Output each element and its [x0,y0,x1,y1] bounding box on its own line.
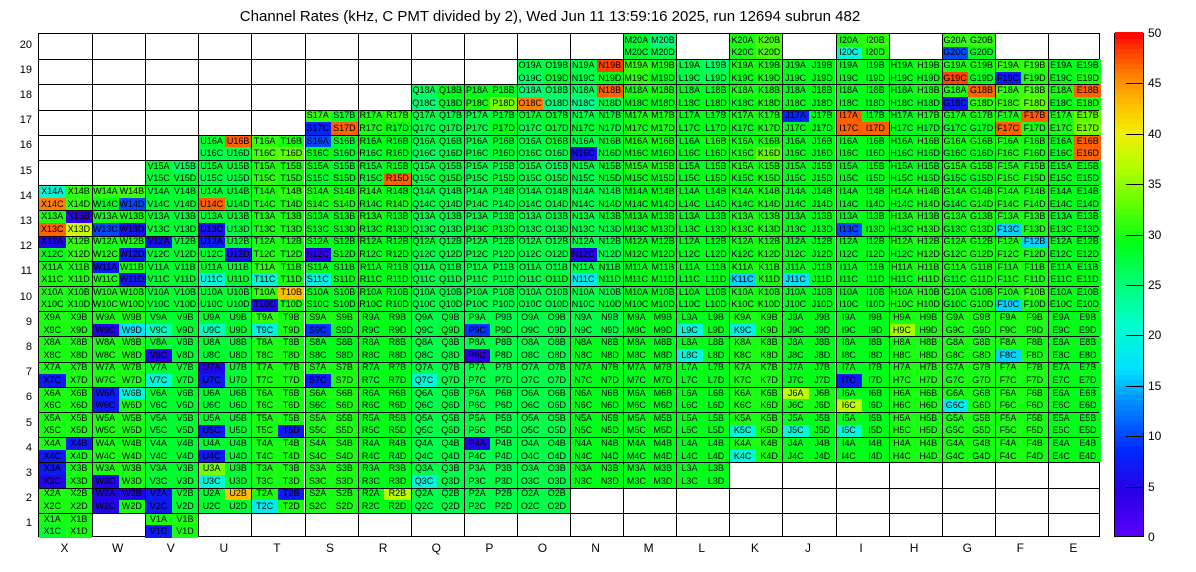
channel-pad[interactable]: S3AS3BS3CS3D [305,462,358,487]
channel-pad[interactable]: Q18AQ18BQ18CQ18D [411,84,464,109]
channel-cell[interactable]: G4C [942,450,969,463]
channel-cell[interactable]: P12A [464,236,491,249]
channel-cell[interactable]: U13A [198,210,225,223]
channel-cell[interactable]: K15A [729,160,756,173]
channel-cell[interactable]: L9C [676,324,703,337]
channel-cell[interactable]: K12B [756,236,783,249]
channel-cell[interactable]: O5A [517,412,544,425]
channel-cell[interactable]: T7A [251,362,278,375]
channel-cell[interactable]: M14D [650,198,677,211]
channel-cell[interactable]: V12B [172,236,199,249]
channel-pad[interactable]: G14AG14BG14CG14D [942,185,995,210]
channel-pad[interactable]: E9AE9BE9CE9D [1048,311,1101,336]
channel-cell[interactable]: X2B [66,488,93,501]
channel-cell[interactable]: U2D [225,500,252,513]
channel-cell[interactable]: J5B [809,412,836,425]
channel-cell[interactable]: R2A [358,488,385,501]
channel-cell[interactable]: W8B [119,336,146,349]
channel-cell[interactable]: I8C [836,349,863,362]
channel-cell[interactable]: L8C [676,349,703,362]
channel-cell[interactable]: I11C [836,273,863,286]
channel-pad[interactable]: I10AI10BI10CI10D [836,286,889,311]
channel-cell[interactable]: K19A [729,59,756,72]
channel-pad[interactable]: V4AV4BV4CV4D [145,437,198,462]
channel-cell[interactable]: L15C [676,173,703,186]
channel-cell[interactable]: V4C [145,450,172,463]
channel-pad[interactable]: M12AM12BM12CM12D [623,236,676,261]
channel-cell[interactable]: K8A [729,336,756,349]
channel-cell[interactable]: E5D [1074,425,1101,438]
channel-pad[interactable]: Q13AQ13BQ13CQ13D [411,210,464,235]
channel-cell[interactable]: S13C [305,223,332,236]
channel-cell[interactable]: F15C [995,173,1022,186]
channel-cell[interactable]: V1A [145,513,172,526]
channel-cell[interactable]: S4C [305,450,332,463]
channel-pad[interactable]: K15AK15BK15CK15D [729,160,782,185]
channel-cell[interactable]: G9D [968,324,995,337]
channel-pad[interactable]: G12AG12BG12CG12D [942,236,995,261]
channel-cell[interactable]: H6D [915,399,942,412]
channel-cell[interactable]: R5C [358,425,385,438]
channel-pad[interactable]: H13AH13BH13CH13D [889,210,942,235]
channel-pad[interactable]: P13AP13BP13CP13D [464,210,517,235]
channel-pad[interactable]: H14AH14BH14CH14D [889,185,942,210]
channel-cell[interactable]: V2D [172,500,199,513]
channel-cell[interactable]: Q5B [437,412,464,425]
channel-cell[interactable]: T2B [278,488,305,501]
channel-pad[interactable]: Q2AQ2BQ2CQ2D [411,488,464,513]
channel-cell[interactable]: H15A [889,160,916,173]
channel-pad[interactable]: I12AI12BI12CI12D [836,236,889,261]
channel-cell[interactable]: E18D [1074,97,1101,110]
channel-cell[interactable]: G18C [942,97,969,110]
channel-cell[interactable]: P16D [490,147,517,160]
channel-cell[interactable]: N6D [597,399,624,412]
channel-cell[interactable]: F15A [995,160,1022,173]
channel-cell[interactable]: F14D [1021,198,1048,211]
channel-cell[interactable]: P10D [490,299,517,312]
channel-cell[interactable]: H13C [889,223,916,236]
channel-cell[interactable]: R16A [358,135,385,148]
channel-cell[interactable]: V15B [172,160,199,173]
channel-pad[interactable]: I20AI20BI20CI20D [836,34,889,59]
channel-cell[interactable]: N17D [597,122,624,135]
channel-cell[interactable]: T3B [278,462,305,475]
channel-cell[interactable]: S3D [331,475,358,488]
channel-cell[interactable]: L9A [676,311,703,324]
channel-cell[interactable]: G15C [942,173,969,186]
channel-cell[interactable]: F14C [995,198,1022,211]
channel-cell[interactable]: N6A [570,387,597,400]
channel-cell[interactable]: T11C [251,273,278,286]
channel-cell[interactable]: O3A [517,462,544,475]
channel-cell[interactable]: K9D [756,324,783,337]
channel-cell[interactable]: U5D [225,425,252,438]
channel-cell[interactable]: H9A [889,311,916,324]
channel-cell[interactable]: X2A [39,488,66,501]
channel-pad[interactable]: O9AO9BO9CO9D [517,311,570,336]
channel-cell[interactable]: L19D [703,72,730,85]
channel-cell[interactable]: M9A [623,311,650,324]
channel-pad[interactable]: R11AR11BR11CR11D [358,261,411,286]
channel-cell[interactable]: I20B [862,34,889,47]
channel-cell[interactable]: K11A [729,261,756,274]
channel-cell[interactable]: H17C [889,122,916,135]
channel-cell[interactable]: G20B [968,34,995,47]
channel-cell[interactable]: W13C [92,223,119,236]
channel-cell[interactable]: E17A [1048,110,1075,123]
channel-cell[interactable]: T7C [251,374,278,387]
channel-cell[interactable]: Q2A [411,488,438,501]
channel-cell[interactable]: N10D [597,299,624,312]
channel-cell[interactable]: G4D [968,450,995,463]
channel-cell[interactable]: W13A [92,210,119,223]
channel-cell[interactable]: N8B [597,336,624,349]
channel-cell[interactable]: F15D [1021,173,1048,186]
channel-cell[interactable]: W8C [92,349,119,362]
channel-cell[interactable]: L6C [676,399,703,412]
channel-cell[interactable]: Q13C [411,223,438,236]
channel-pad[interactable]: N4AN4BN4CN4D [570,437,623,462]
channel-cell[interactable]: L3A [676,462,703,475]
channel-cell[interactable]: O8B [543,336,570,349]
channel-cell[interactable]: F12B [1021,236,1048,249]
channel-cell[interactable]: U3C [198,475,225,488]
channel-cell[interactable]: V14D [172,198,199,211]
channel-cell[interactable]: G19A [942,59,969,72]
channel-cell[interactable]: M19D [650,72,677,85]
channel-cell[interactable]: I18C [836,97,863,110]
channel-cell[interactable]: E19B [1074,59,1101,72]
channel-cell[interactable]: G20C [942,47,969,60]
channel-cell[interactable]: W12D [119,248,146,261]
channel-cell[interactable]: T3D [278,475,305,488]
channel-pad[interactable]: J7AJ7BJ7CJ7D [782,362,835,387]
channel-cell[interactable]: T16B [278,135,305,148]
channel-cell[interactable]: K5C [729,425,756,438]
channel-pad[interactable]: S10AS10BS10CS10D [305,286,358,311]
channel-cell[interactable]: Q12B [437,236,464,249]
channel-cell[interactable]: M20B [650,34,677,47]
channel-cell[interactable]: V15D [172,173,199,186]
channel-cell[interactable]: F9C [995,324,1022,337]
channel-cell[interactable]: E11D [1074,273,1101,286]
channel-cell[interactable]: E13B [1074,210,1101,223]
channel-cell[interactable]: V2A [145,488,172,501]
channel-cell[interactable]: S4B [331,437,358,450]
channel-pad[interactable]: N19AN19BN19CN19D [570,59,623,84]
channel-cell[interactable]: L7A [676,362,703,375]
channel-cell[interactable]: V6D [172,399,199,412]
channel-cell[interactable]: R8B [384,336,411,349]
channel-pad[interactable]: T14AT14BT14CT14D [251,185,304,210]
channel-pad[interactable]: X12AX12BX12CX12D [39,236,92,261]
channel-cell[interactable]: W9A [92,311,119,324]
channel-cell[interactable]: U2B [225,488,252,501]
channel-cell[interactable]: H13D [915,223,942,236]
channel-cell[interactable]: G6D [968,399,995,412]
channel-pad[interactable]: N16AN16BN16CN16D [570,135,623,160]
channel-cell[interactable]: G16A [942,135,969,148]
channel-cell[interactable]: L19A [676,59,703,72]
channel-cell[interactable]: J14A [782,185,809,198]
channel-pad[interactable]: L12AL12BL12CL12D [676,236,729,261]
channel-cell[interactable]: Q10D [437,299,464,312]
channel-cell[interactable]: N9C [570,324,597,337]
channel-cell[interactable]: S7A [305,362,332,375]
channel-cell[interactable]: M15C [623,173,650,186]
channel-cell[interactable]: H15D [915,173,942,186]
channel-cell[interactable]: N6B [597,387,624,400]
channel-cell[interactable]: P7C [464,374,491,387]
channel-cell[interactable]: P6D [490,399,517,412]
channel-pad[interactable]: S6AS6BS6CS6D [305,387,358,412]
channel-pad[interactable]: R8AR8BR8CR8D [358,336,411,361]
channel-cell[interactable]: T13D [278,223,305,236]
channel-cell[interactable]: R17A [358,110,385,123]
channel-cell[interactable]: F13C [995,223,1022,236]
channel-pad[interactable]: I9AI9BI9CI9D [836,311,889,336]
channel-cell[interactable]: R5B [384,412,411,425]
channel-cell[interactable]: I6D [862,399,889,412]
channel-cell[interactable]: H5C [889,425,916,438]
channel-pad[interactable]: W2AW2BW2CW2D [92,488,145,513]
channel-cell[interactable]: U13B [225,210,252,223]
channel-cell[interactable]: K9A [729,311,756,324]
channel-cell[interactable]: W3D [119,475,146,488]
channel-cell[interactable]: G4B [968,437,995,450]
channel-pad[interactable]: V5AV5BV5CV5D [145,412,198,437]
channel-cell[interactable]: V11B [172,261,199,274]
channel-cell[interactable]: G15B [968,160,995,173]
channel-cell[interactable]: P15A [464,160,491,173]
channel-cell[interactable]: E8C [1048,349,1075,362]
channel-cell[interactable]: U8D [225,349,252,362]
channel-cell[interactable]: J16D [809,147,836,160]
channel-cell[interactable]: V13B [172,210,199,223]
channel-cell[interactable]: R9D [384,324,411,337]
channel-cell[interactable]: I18D [862,97,889,110]
channel-cell[interactable]: N4A [570,437,597,450]
channel-pad[interactable]: W9AW9BW9CW9D [92,311,145,336]
channel-cell[interactable]: G13B [968,210,995,223]
channel-cell[interactable]: R12C [358,248,385,261]
channel-cell[interactable]: R4B [384,437,411,450]
channel-cell[interactable]: O19C [517,72,544,85]
channel-cell[interactable]: K17A [729,110,756,123]
channel-cell[interactable]: O11B [543,261,570,274]
channel-cell[interactable]: Q6C [411,399,438,412]
channel-cell[interactable]: M13B [650,210,677,223]
channel-cell[interactable]: G5B [968,412,995,425]
channel-cell[interactable]: W4A [92,437,119,450]
channel-cell[interactable]: G12C [942,248,969,261]
channel-pad[interactable]: U4AU4BU4CU4D [198,437,251,462]
channel-cell[interactable]: L16A [676,135,703,148]
channel-cell[interactable]: Q9B [437,311,464,324]
channel-cell[interactable]: R5A [358,412,385,425]
channel-cell[interactable]: K16C [729,147,756,160]
channel-cell[interactable]: G14A [942,185,969,198]
channel-cell[interactable]: O9D [543,324,570,337]
channel-cell[interactable]: T9D [278,324,305,337]
channel-pad[interactable]: I17AI17BI17CI17D [836,110,889,135]
channel-pad[interactable]: E4AE4BE4CE4D [1048,437,1101,462]
channel-pad[interactable]: O4AO4BO4CO4D [517,437,570,462]
channel-cell[interactable]: H19A [889,59,916,72]
channel-cell[interactable]: M4A [623,437,650,450]
channel-cell[interactable]: O5C [517,425,544,438]
channel-pad[interactable]: M10AM10BM10CM10D [623,286,676,311]
channel-pad[interactable]: P3AP3BP3CP3D [464,462,517,487]
channel-pad[interactable]: E6AE6BE6CE6D [1048,387,1101,412]
channel-cell[interactable]: L8A [676,336,703,349]
channel-cell[interactable]: Q11C [411,273,438,286]
channel-cell[interactable]: O10C [517,299,544,312]
channel-cell[interactable]: N16A [570,135,597,148]
channel-cell[interactable]: I14A [836,185,863,198]
channel-cell[interactable]: I9D [862,324,889,337]
channel-pad[interactable]: K4AK4BK4CK4D [729,437,782,462]
channel-cell[interactable]: P11B [490,261,517,274]
channel-cell[interactable]: U11A [198,261,225,274]
channel-cell[interactable]: V11D [172,273,199,286]
channel-cell[interactable]: K20B [756,34,783,47]
channel-cell[interactable]: H4A [889,437,916,450]
channel-pad[interactable]: M7AM7BM7CM7D [623,362,676,387]
channel-cell[interactable]: N17B [597,110,624,123]
channel-cell[interactable]: K13D [756,223,783,236]
channel-cell[interactable]: V1D [172,525,199,538]
channel-pad[interactable]: R15AR15BR15CR15D [358,160,411,185]
channel-cell[interactable]: P9D [490,324,517,337]
channel-cell[interactable]: I12A [836,236,863,249]
channel-cell[interactable]: U12A [198,236,225,249]
channel-cell[interactable]: K10C [729,299,756,312]
channel-pad[interactable]: U7AU7BU7CU7D [198,362,251,387]
channel-cell[interactable]: S6B [331,387,358,400]
channel-cell[interactable]: W5B [119,412,146,425]
channel-cell[interactable]: N18D [597,97,624,110]
channel-pad[interactable]: H4AH4BH4CH4D [889,437,942,462]
channel-cell[interactable]: I13A [836,210,863,223]
channel-cell[interactable]: V14C [145,198,172,211]
channel-cell[interactable]: U15C [198,173,225,186]
channel-pad[interactable]: I4AI4BI4CI4D [836,437,889,462]
channel-cell[interactable]: O6D [543,399,570,412]
channel-pad[interactable]: V1AV1BV1CV1D [145,513,198,538]
channel-cell[interactable]: V13C [145,223,172,236]
channel-cell[interactable]: H10C [889,299,916,312]
channel-cell[interactable]: H8A [889,336,916,349]
channel-pad[interactable]: X14AX14BX14CX14D [39,185,92,210]
channel-cell[interactable]: N18C [570,97,597,110]
channel-pad[interactable]: X10AX10BX10CX10D [39,286,92,311]
channel-cell[interactable]: S15C [305,173,332,186]
channel-cell[interactable]: Q17A [411,110,438,123]
channel-cell[interactable]: T13B [278,210,305,223]
channel-cell[interactable]: V1B [172,513,199,526]
channel-cell[interactable]: U10C [198,299,225,312]
channel-cell[interactable]: S15B [331,160,358,173]
channel-pad[interactable]: F16AF16BF16CF16D [995,135,1048,160]
channel-pad[interactable]: E16AE16BE16CE16D [1048,135,1101,160]
channel-cell[interactable]: E12D [1074,248,1101,261]
channel-cell[interactable]: P15C [464,173,491,186]
channel-cell[interactable]: M9B [650,311,677,324]
channel-cell[interactable]: E10A [1048,286,1075,299]
channel-cell[interactable]: P12B [490,236,517,249]
channel-cell[interactable]: X7C [39,374,66,387]
channel-pad[interactable]: E8AE8BE8CE8D [1048,336,1101,361]
channel-cell[interactable]: V2B [172,488,199,501]
channel-cell[interactable]: J14D [809,198,836,211]
channel-cell[interactable]: L17A [676,110,703,123]
channel-cell[interactable]: P12D [490,248,517,261]
channel-cell[interactable]: R14C [358,198,385,211]
channel-pad[interactable]: S2AS2BS2CS2D [305,488,358,513]
channel-cell[interactable]: J17C [782,122,809,135]
channel-cell[interactable]: V12A [145,236,172,249]
channel-cell[interactable]: P17B [490,110,517,123]
channel-cell[interactable]: X1D [66,525,93,538]
channel-cell[interactable]: J12D [809,248,836,261]
channel-cell[interactable]: P2A [464,488,491,501]
channel-pad[interactable]: E10AE10BE10CE10D [1048,286,1101,311]
channel-pad[interactable]: G15AG15BG15CG15D [942,160,995,185]
channel-cell[interactable]: H6B [915,387,942,400]
channel-cell[interactable]: N12C [570,248,597,261]
channel-cell[interactable]: E8D [1074,349,1101,362]
channel-pad[interactable]: O2AO2BO2CO2D [517,488,570,513]
channel-cell[interactable]: T15C [251,173,278,186]
channel-cell[interactable]: Q5C [411,425,438,438]
channel-cell[interactable]: P17D [490,122,517,135]
channel-pad[interactable]: U6AU6BU6CU6D [198,387,251,412]
channel-cell[interactable]: L7D [703,374,730,387]
channel-cell[interactable]: X4A [39,437,66,450]
channel-cell[interactable]: J4B [809,437,836,450]
channel-cell[interactable]: P11C [464,273,491,286]
channel-cell[interactable]: T9B [278,311,305,324]
channel-cell[interactable]: V9C [145,324,172,337]
channel-cell[interactable]: I10C [836,299,863,312]
channel-cell[interactable]: R17B [384,110,411,123]
channel-cell[interactable]: W11A [92,261,119,274]
channel-cell[interactable]: Q3C [411,475,438,488]
channel-pad[interactable]: T11AT11BT11CT11D [251,261,304,286]
channel-cell[interactable]: H12A [889,236,916,249]
channel-cell[interactable]: F17B [1021,110,1048,123]
channel-cell[interactable]: T8C [251,349,278,362]
channel-cell[interactable]: V2C [145,500,172,513]
channel-cell[interactable]: E13A [1048,210,1075,223]
channel-pad[interactable]: K17AK17BK17CK17D [729,110,782,135]
channel-cell[interactable]: R3A [358,462,385,475]
channel-cell[interactable]: S12D [331,248,358,261]
channel-pad[interactable]: G8AG8BG8CG8D [942,336,995,361]
channel-cell[interactable]: E19C [1048,72,1075,85]
channel-pad[interactable]: T6AT6BT6CT6D [251,387,304,412]
channel-pad[interactable]: R3AR3BR3CR3D [358,462,411,487]
channel-cell[interactable]: K4B [756,437,783,450]
channel-cell[interactable]: K5A [729,412,756,425]
channel-cell[interactable]: P5B [490,412,517,425]
channel-pad[interactable]: M16AM16BM16CM16D [623,135,676,160]
channel-cell[interactable]: O9A [517,311,544,324]
channel-pad[interactable]: R16AR16BR16CR16D [358,135,411,160]
channel-cell[interactable]: X10A [39,286,66,299]
